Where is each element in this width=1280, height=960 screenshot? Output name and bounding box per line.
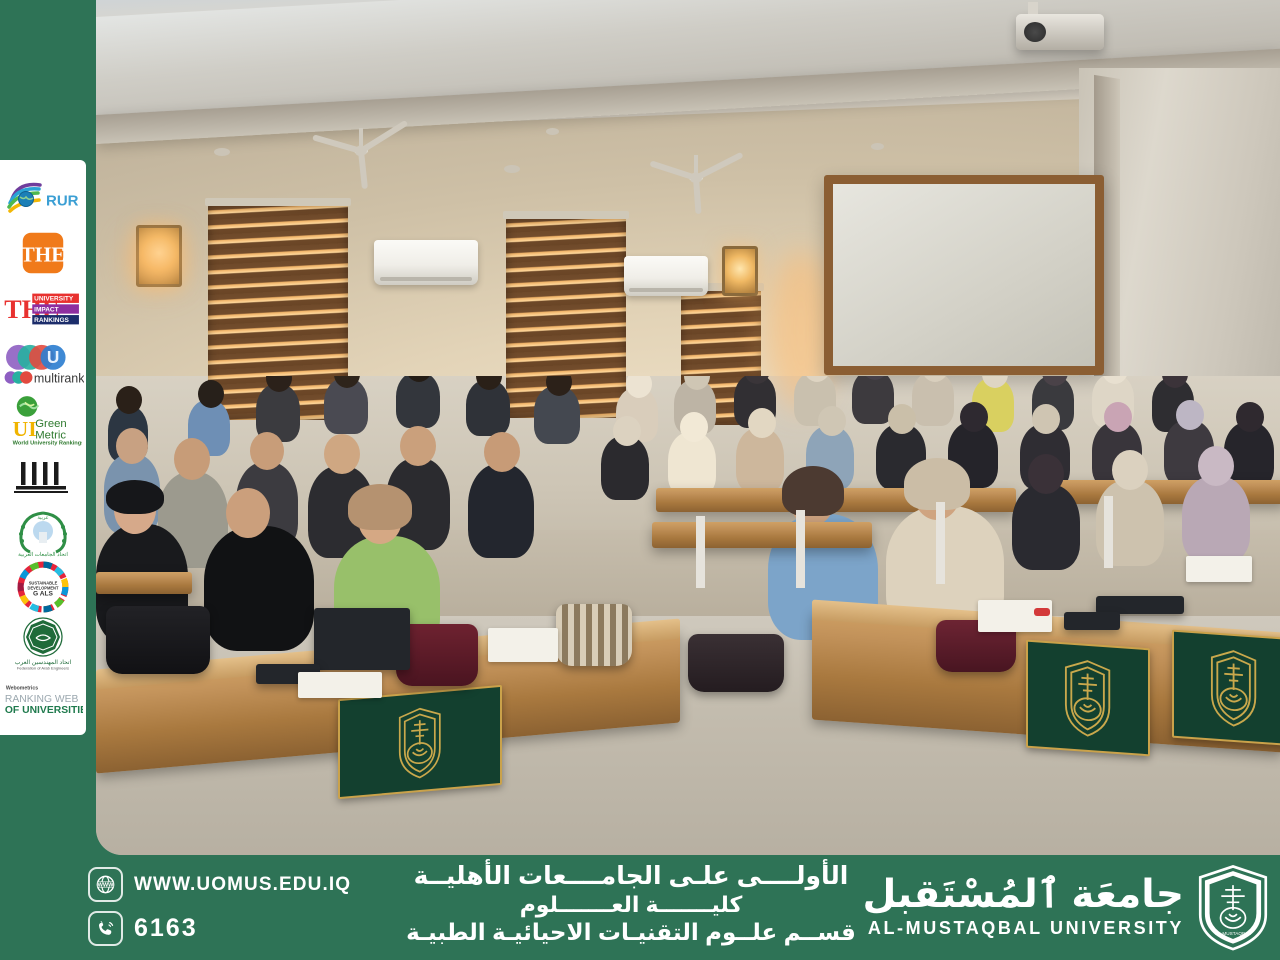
contact-block: WWW WWW.UOMUS.EDU.IQ 6163 (88, 867, 351, 946)
notebook (488, 628, 558, 662)
accreditation-sidebar: RUR THE THE UNIVERSITY IMPACT (0, 0, 86, 960)
logo-rur: RUR (2, 170, 84, 226)
logo-webometrics: Webometrics RANKING WEB OF UNIVERSITIES (2, 671, 84, 727)
desk-crest-plaque (1026, 640, 1150, 757)
attendee-head (1112, 450, 1148, 490)
logo-the: THE (2, 226, 84, 282)
event-photo (96, 0, 1280, 855)
attendee-hijab (106, 480, 164, 514)
attendee-head (1028, 454, 1064, 494)
attendee-head (888, 404, 916, 434)
svg-text:WWW: WWW (98, 882, 115, 888)
ceiling-light (504, 165, 520, 173)
attendee (468, 464, 534, 558)
svg-text:multirank: multirank (34, 371, 84, 385)
website-text: WWW.UOMUS.EDU.IQ (134, 874, 351, 896)
attendee (396, 376, 440, 428)
university-crest-icon (1188, 642, 1279, 734)
svg-text:SUSTAINABLE: SUSTAINABLE (29, 581, 58, 586)
attendee-head (324, 434, 360, 474)
attendee-head (1176, 400, 1204, 430)
attendee-head (748, 408, 776, 438)
phone (1064, 612, 1120, 630)
logo-u-multirank: U multirank (2, 337, 84, 393)
desk-crest-plaque (1172, 630, 1280, 747)
classroom-desk (652, 522, 872, 548)
college-line: كليـــــــة العـــــــلوم (406, 892, 856, 919)
university-crest-icon (1042, 652, 1133, 744)
phone-row[interactable]: 6163 (88, 911, 351, 946)
svg-text:Webometrics: Webometrics (6, 686, 38, 692)
attendee-head (174, 438, 210, 480)
handbag (688, 634, 784, 692)
attendee-head (198, 380, 224, 408)
department-text-block: الأولــــى علـى الجامــــعات الأهليــة ك… (406, 861, 856, 946)
svg-text:OF UNIVERSITIES: OF UNIVERSITIES (5, 705, 83, 716)
svg-text:Green: Green (35, 418, 66, 430)
ceiling-light (546, 128, 559, 135)
svg-text:RANKINGS: RANKINGS (34, 317, 69, 324)
attendee-head (1198, 446, 1234, 486)
svg-text:IMPACT: IMPACT (34, 306, 59, 313)
logo-ui-greenmetric: UI Green Metric World University Ranking… (2, 393, 84, 449)
globe-www-icon: WWW (88, 867, 123, 902)
attendee-head (116, 386, 142, 414)
light-glow (126, 230, 186, 290)
svg-text:UNIVERSITY: UNIVERSITY (34, 296, 74, 303)
phone-icon (88, 911, 123, 946)
attendee-head (250, 432, 284, 470)
university-brand: جامعَة ٱلمُسْتَقبل AL-MUSTAQBAL UNIVERSI… (863, 863, 1272, 951)
logo-panel: RUR THE THE UNIVERSITY IMPACT (0, 160, 86, 735)
marker-pen (1034, 608, 1050, 616)
attendee (1012, 484, 1080, 570)
attendee-hijab (348, 484, 412, 530)
university-crest-icon: AL-MUSTAQBAL (1194, 863, 1272, 951)
attendee-head (1032, 404, 1060, 434)
attendee-head (116, 428, 148, 464)
desk-leg (696, 516, 705, 588)
desk-crest-plaque (338, 685, 502, 799)
attendee (1182, 476, 1250, 562)
attendee-head (1236, 402, 1264, 432)
projection-screen (824, 175, 1104, 375)
svg-text:AL-MUSTAQBAL: AL-MUSTAQBAL (1215, 931, 1251, 936)
website-row[interactable]: WWW WWW.UOMUS.EDU.IQ (88, 867, 351, 902)
attendee-head (613, 416, 641, 446)
logo-sdg: SUSTAINABLE DEVELOPMENT G ALS (2, 559, 84, 615)
notebook (978, 600, 1052, 632)
svg-text:Federation of Arab Engineers: Federation of Arab Engineers (17, 666, 69, 671)
svg-text:RANKING WEB: RANKING WEB (5, 694, 79, 705)
ceiling-light (871, 143, 884, 150)
logo-federation-arab-engineers: اتحاد المهندسين العرب Federation of Arab… (2, 615, 84, 671)
poster-root: RUR THE THE UNIVERSITY IMPACT (0, 0, 1280, 960)
logo-association-arab-universities: عربية اتحاد الجامعات العربية (2, 504, 84, 560)
attendee-head (680, 412, 708, 442)
wall-sconce (722, 246, 758, 296)
svg-text:Metric: Metric (35, 430, 66, 442)
poster-footer: WWW WWW.UOMUS.EDU.IQ 6163 الأولــــى علـ… (0, 855, 1280, 960)
attendee-head (226, 488, 270, 538)
svg-text:اتحاد الجامعات العربية: اتحاد الجامعات العربية (18, 551, 68, 558)
handbag (556, 604, 632, 666)
attendee-hijab (782, 466, 844, 516)
papers (298, 672, 382, 698)
air-conditioner (624, 256, 708, 296)
svg-text:عربية: عربية (37, 515, 48, 521)
phone-text: 6163 (134, 914, 198, 943)
brand-text: جامعَة ٱلمُسْتَقبل AL-MUSTAQBAL UNIVERSI… (863, 875, 1184, 939)
notebook (1186, 556, 1252, 582)
air-conditioner (374, 240, 478, 285)
student-audience (96, 376, 1280, 855)
attendee (912, 376, 954, 426)
svg-text:UI: UI (13, 418, 37, 442)
department-line: قســم علــوم التقنيـات الاحيائيـة الطبيـ… (406, 918, 856, 946)
svg-text:اتحاد المهندسين العرب: اتحاد المهندسين العرب (15, 659, 72, 666)
svg-text:World University Rankings: World University Rankings (13, 441, 82, 447)
handbag (106, 606, 210, 674)
laptop (314, 608, 410, 670)
attendee-head (818, 406, 846, 436)
desk-leg (1104, 496, 1113, 568)
ceiling-light (214, 148, 230, 156)
svg-text:U: U (47, 347, 59, 367)
svg-text:THE: THE (21, 243, 66, 267)
desk-leg (796, 510, 805, 588)
brand-arabic-name: جامعَة ٱلمُسْتَقبل (863, 875, 1184, 914)
university-crest-icon (359, 698, 481, 787)
attendee-head (1104, 402, 1132, 432)
attendee-head (400, 426, 436, 466)
attendee (204, 526, 314, 651)
logo-the-impact-rankings: THE UNIVERSITY IMPACT RANKINGS (2, 281, 84, 337)
classroom-desk (96, 572, 192, 594)
attendee-head (960, 402, 988, 432)
svg-text:G ALS: G ALS (33, 591, 54, 598)
brand-english-name: AL-MUSTAQBAL UNIVERSITY (868, 918, 1184, 939)
ceiling-projector-icon (1016, 14, 1104, 50)
svg-text:DEVELOPMENT: DEVELOPMENT (28, 586, 59, 591)
classroom-scene (96, 0, 1280, 855)
attendee-head (484, 432, 520, 472)
logo-accreditation-pillars (2, 448, 84, 504)
tagline-first-line: الأولــــى علـى الجامــــعات الأهليــة (406, 861, 856, 892)
svg-text:RUR: RUR (46, 192, 79, 209)
desk-leg (936, 502, 945, 584)
